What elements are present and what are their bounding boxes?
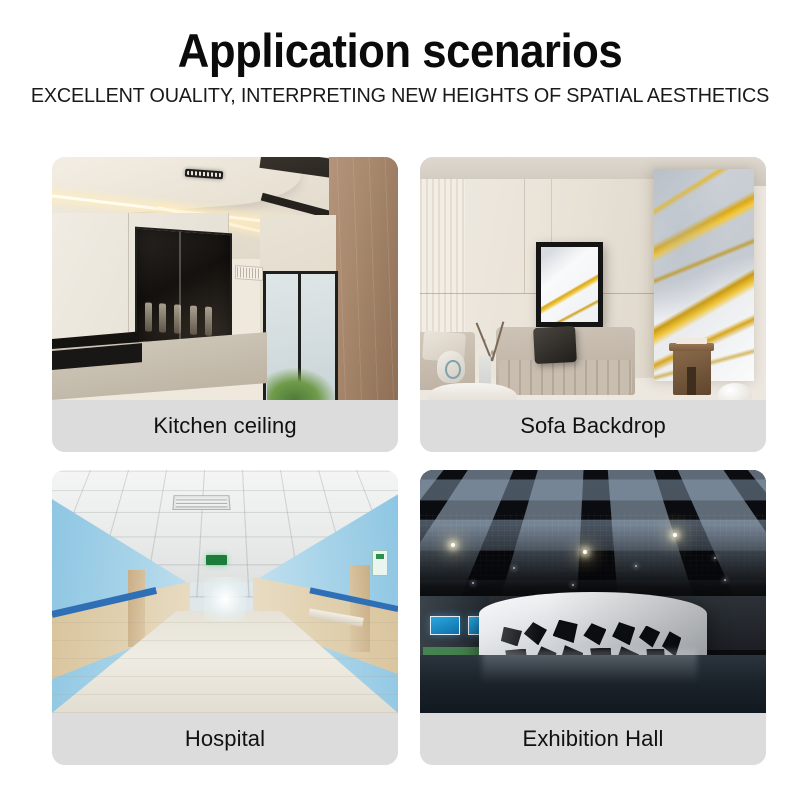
scenario-card-exhibition-hall[interactable]: Exhibition Hall	[420, 470, 766, 765]
scenario-image-kitchen-ceiling	[52, 157, 398, 400]
hospital-corridor-vanishing-light	[204, 577, 246, 621]
scenario-image-exhibition-hall	[420, 470, 766, 713]
scenario-image-hospital	[52, 470, 398, 713]
hospital-wall-sign	[372, 550, 388, 576]
sofa-sculpture	[437, 351, 465, 383]
exhibition-spotlight	[583, 550, 587, 554]
exhibition-green-accent	[423, 647, 478, 654]
exhibition-spotlight	[451, 543, 455, 547]
kitchen-cabinet-seam	[128, 213, 129, 349]
exhibition-ceiling-shadow	[420, 470, 766, 606]
scenario-caption-kitchen-ceiling: Kitchen ceiling	[52, 400, 398, 452]
hospital-exit-sign	[206, 555, 227, 565]
scenario-card-grid: Kitchen ceiling	[52, 157, 748, 765]
scenario-caption-hospital: Hospital	[52, 713, 398, 765]
sofa-framed-artwork	[536, 242, 603, 327]
scenario-caption-exhibition-hall: Exhibition Hall	[420, 713, 766, 765]
sofa-stool-top	[669, 343, 714, 352]
sofa-black-cushion	[533, 326, 576, 365]
scenario-card-sofa-backdrop[interactable]: Sofa Backdrop	[420, 157, 766, 452]
sofa-dried-branch	[472, 320, 514, 361]
kitchen-plant	[267, 368, 336, 400]
exhibition-display-screen	[430, 616, 460, 635]
scenario-card-kitchen-ceiling[interactable]: Kitchen ceiling	[52, 157, 398, 452]
page-header: Application scenarios EXCELLENT OUALITY,…	[0, 0, 800, 108]
exhibition-spotlight	[673, 533, 677, 537]
sofa-coffee-table	[427, 383, 517, 400]
scenario-card-hospital[interactable]: Hospital	[52, 470, 398, 765]
kitchen-air-vent	[235, 265, 263, 281]
page-subtitle: EXCELLENT OUALITY, INTERPRETING NEW HEIG…	[14, 84, 786, 108]
sofa-book	[676, 338, 707, 344]
exhibition-floor-reflection	[482, 650, 697, 684]
kitchen-wood-column	[329, 157, 398, 400]
kitchen-bottles	[142, 302, 225, 337]
scenario-caption-sofa-backdrop: Sofa Backdrop	[420, 400, 766, 452]
hospital-ceiling-vent	[172, 496, 231, 510]
sofa-wood-stool	[673, 349, 711, 395]
exhibition-ceiling-downlight	[472, 582, 474, 584]
exhibition-ceiling-downlight	[635, 565, 637, 567]
page-title: Application scenarios	[28, 26, 772, 75]
hospital-floor-tile-lines	[52, 606, 398, 713]
sofa-artwork-canvas	[541, 247, 598, 322]
scenario-image-sofa-backdrop	[420, 157, 766, 400]
sofa-wall-seam-left	[524, 179, 525, 293]
sofa-pouf	[718, 383, 753, 400]
